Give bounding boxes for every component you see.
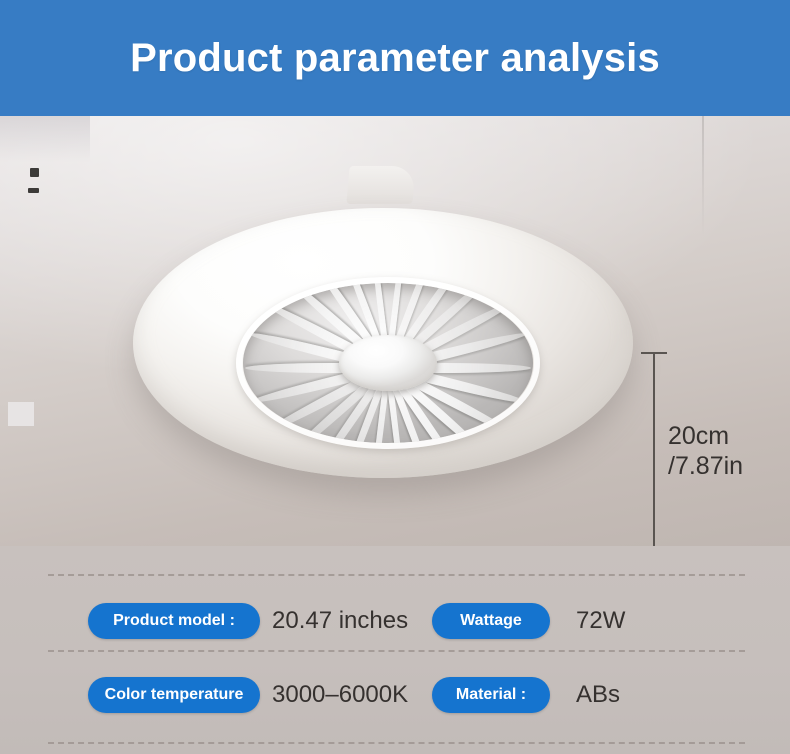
spec-label-wattage: Wattage <box>432 603 550 639</box>
spec-item-product-model: Product model : 20.47 inches <box>88 603 408 639</box>
fan-grille-rim <box>236 277 540 449</box>
spec-panel: Product model : 20.47 inches Wattage 72W… <box>0 546 790 754</box>
product-infographic: Product parameter analysis 20cm /7.87in <box>0 0 790 754</box>
wall-edge <box>702 116 704 236</box>
product-photo: 20cm /7.87in 52cm/20.47in <box>0 116 790 546</box>
spec-item-wattage: Wattage 72W <box>432 603 625 639</box>
spec-label-color-temperature: Color temperature <box>88 677 260 713</box>
wall-seam <box>0 116 90 162</box>
spec-value-material: ABs <box>576 681 620 709</box>
mount-screw-upper <box>30 168 39 177</box>
spec-row: Product model : 20.47 inches Wattage 72W <box>0 603 790 647</box>
spec-item-material: Material : ABs <box>432 677 620 713</box>
spec-divider-top <box>48 574 745 576</box>
spec-value-product-model: 20.47 inches <box>272 607 408 635</box>
spec-divider-middle <box>48 650 745 652</box>
page-title: Product parameter analysis <box>130 36 660 81</box>
spec-label-material: Material : <box>432 677 550 713</box>
height-dimension-cm: 20cm <box>668 421 743 451</box>
header-banner: Product parameter analysis <box>0 0 790 116</box>
spec-label-product-model: Product model : <box>88 603 260 639</box>
mount-screw-lower <box>28 188 39 193</box>
spec-item-color-temperature: Color temperature 3000–6000K <box>88 677 408 713</box>
spec-value-color-temperature: 3000–6000K <box>272 681 408 709</box>
height-dimension-in: /7.87in <box>668 451 743 481</box>
spec-value-wattage: 72W <box>576 607 625 635</box>
spec-row: Color temperature 3000–6000K Material : … <box>0 677 790 721</box>
spec-divider-bottom <box>48 742 745 744</box>
ceiling-fan-assembly <box>18 198 628 498</box>
height-dimension-label: 20cm /7.87in <box>668 421 743 481</box>
